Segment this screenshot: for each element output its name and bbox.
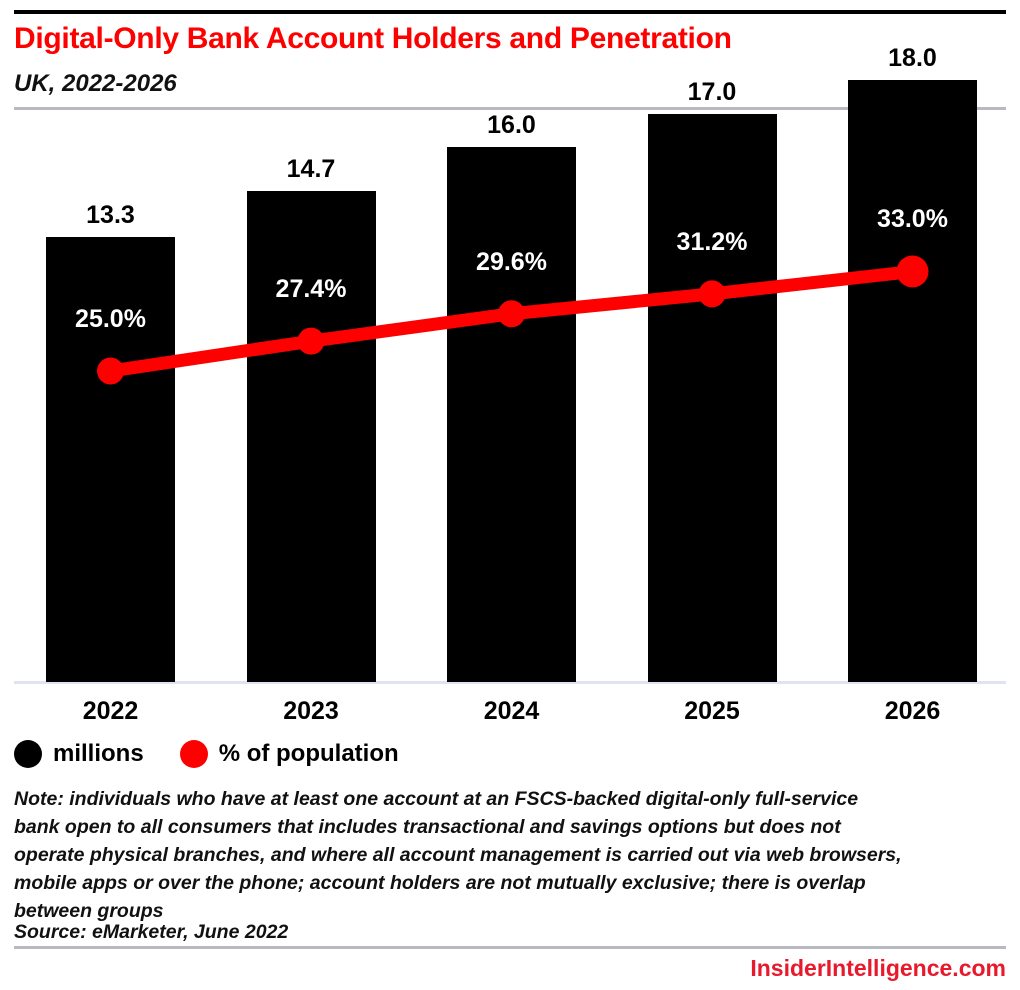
- x-axis-label-2025: 2025: [612, 697, 813, 726]
- chart-legend: millions% of population: [14, 740, 435, 768]
- chart-plot-area: 13.314.716.017.018.0 25.0%27.4%29.6%31.2…: [0, 0, 1020, 700]
- legend-item-millions: millions: [14, 740, 144, 768]
- legend-item-percent-of-population: % of population: [180, 740, 399, 768]
- legend-label: millions: [53, 740, 144, 768]
- percent-label-2025: 31.2%: [612, 228, 813, 257]
- line-marker-2024: [498, 300, 525, 327]
- line-marker-2022: [97, 358, 124, 385]
- percent-label-2024: 29.6%: [411, 248, 612, 277]
- black-circle-marker: [14, 740, 42, 768]
- x-axis-label-2024: 2024: [411, 697, 612, 726]
- line-marker-2025: [699, 280, 726, 307]
- legend-label: % of population: [219, 740, 399, 768]
- percent-label-2022: 25.0%: [10, 305, 211, 334]
- brand-watermark: InsiderIntelligence.com: [750, 955, 1006, 982]
- note-line-4: mobile apps or over the phone; account h…: [14, 869, 994, 897]
- chart-source: Source: eMarketer, June 2022: [14, 921, 288, 944]
- x-axis-label-2023: 2023: [211, 697, 412, 726]
- percent-label-2026: 33.0%: [812, 205, 1013, 234]
- note-line-2: bank open to all consumers that includes…: [14, 813, 994, 841]
- percent-label-2023: 27.4%: [211, 275, 412, 304]
- line-marker-2023: [298, 328, 325, 355]
- footer-divider-rule: [14, 946, 1006, 949]
- chart-note: Note: individuals who have at least one …: [14, 785, 994, 925]
- x-axis-label-2026: 2026: [812, 697, 1013, 726]
- penetration-line-layer: [0, 0, 1020, 700]
- chart-page: Digital-Only Bank Account Holders and Pe…: [0, 0, 1020, 990]
- line-marker-2026: [897, 255, 929, 287]
- note-line-1: Note: individuals who have at least one …: [14, 785, 994, 813]
- red-circle-marker: [180, 740, 208, 768]
- note-line-3: operate physical branches, and where all…: [14, 841, 994, 869]
- x-axis-label-2022: 2022: [10, 697, 211, 726]
